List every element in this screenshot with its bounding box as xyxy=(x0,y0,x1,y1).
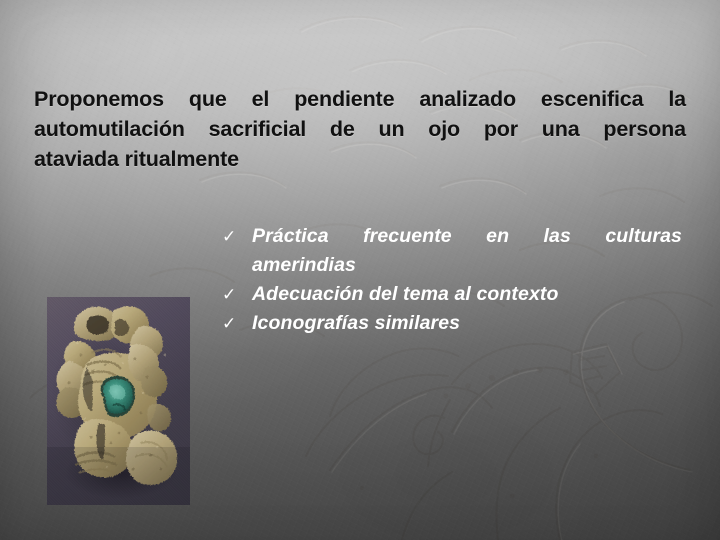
title-line-1: Proponemos que el pendiente analizado es… xyxy=(34,84,686,114)
title-word: por xyxy=(484,114,518,144)
title-word: sacrificial xyxy=(209,114,307,144)
title-word: una xyxy=(542,114,580,144)
checkmark-icon: ✓ xyxy=(218,309,252,338)
pendant-figure-illustration xyxy=(47,297,190,505)
title-word: que xyxy=(189,84,227,114)
checkmark-icon: ✓ xyxy=(218,280,252,309)
artifact-photo[interactable] xyxy=(47,297,190,505)
title-line-3: ataviada ritualmente xyxy=(34,144,686,174)
list-item-line: amerindias xyxy=(252,251,682,280)
title-word: escenifica xyxy=(541,84,643,114)
list-item-word: Práctica xyxy=(252,222,329,251)
presentation-slide: Proponemos que el pendiente analizado es… xyxy=(0,0,720,540)
list-item-label: Adecuación del tema al contexto xyxy=(252,280,682,309)
title-word: el xyxy=(252,84,270,114)
slide-title: Proponemos que el pendiente analizado es… xyxy=(34,84,686,174)
list-item-word: las xyxy=(544,222,571,251)
title-word: un xyxy=(379,114,405,144)
list-item-word: culturas xyxy=(605,222,682,251)
title-word: analizado xyxy=(419,84,516,114)
title-word: persona xyxy=(603,114,686,144)
list-item-label: Práctica frecuente en las culturas ameri… xyxy=(252,222,682,280)
bullet-list: ✓ Práctica frecuente en las culturas ame… xyxy=(218,222,682,338)
title-word: de xyxy=(330,114,355,144)
title-word: automutilación xyxy=(34,114,185,144)
list-item[interactable]: ✓ Iconografías similares xyxy=(218,309,682,338)
list-item-word: en xyxy=(486,222,509,251)
title-word: la xyxy=(668,84,686,114)
title-line-2: automutilación sacrificial de un ojo por… xyxy=(34,114,686,144)
list-item-word: frecuente xyxy=(363,222,452,251)
list-item-line: Práctica frecuente en las culturas xyxy=(252,222,682,251)
title-word: ojo xyxy=(428,114,460,144)
list-item[interactable]: ✓ Adecuación del tema al contexto xyxy=(218,280,682,309)
title-word: Proponemos xyxy=(34,84,164,114)
checkmark-icon: ✓ xyxy=(218,222,252,251)
list-item[interactable]: ✓ Práctica frecuente en las culturas ame… xyxy=(218,222,682,280)
title-word: pendiente xyxy=(294,84,394,114)
list-item-label: Iconografías similares xyxy=(252,309,682,338)
